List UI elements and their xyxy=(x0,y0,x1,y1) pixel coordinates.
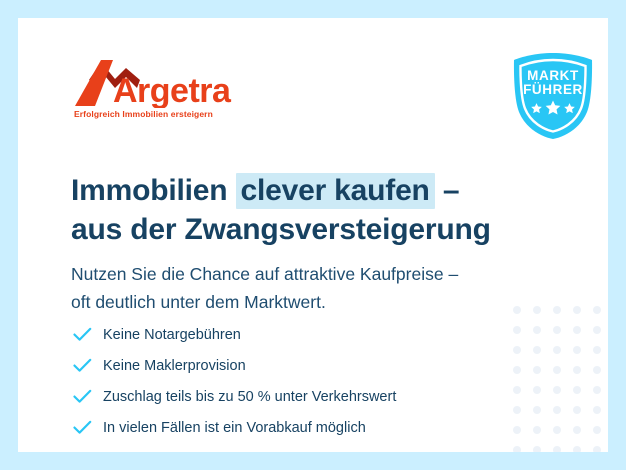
shield-icon xyxy=(507,129,599,146)
headline-pre: Immobilien xyxy=(71,174,236,207)
dot xyxy=(593,426,601,434)
dot xyxy=(513,446,521,452)
dot-row xyxy=(513,406,608,414)
check-icon xyxy=(73,420,99,435)
argetra-roof-mark-icon: Argetra xyxy=(71,58,251,113)
dot-row xyxy=(513,326,608,334)
dot xyxy=(573,406,581,414)
dot xyxy=(593,346,601,354)
dot xyxy=(573,386,581,394)
list-item-label: Keine Maklerprovision xyxy=(99,358,246,374)
dot xyxy=(573,366,581,374)
dot xyxy=(593,446,601,452)
benefit-list: Keine NotargebührenKeine Maklerprovision… xyxy=(73,319,523,443)
dot-row xyxy=(513,366,608,374)
subtitle-line-1: Nutzen Sie die Chance auf attraktive Kau… xyxy=(71,260,571,288)
dot xyxy=(573,426,581,434)
dot xyxy=(553,386,561,394)
dot xyxy=(533,326,541,334)
dot-row xyxy=(513,346,608,354)
headline-line-2: aus der Zwangsversteigerung xyxy=(71,211,551,250)
dot xyxy=(593,386,601,394)
dot xyxy=(553,366,561,374)
dot-grid-decoration xyxy=(513,306,608,452)
dot xyxy=(553,426,561,434)
page-title: Immobilien clever kaufen – aus der Zwang… xyxy=(71,172,551,249)
check-icon xyxy=(73,389,99,404)
headline-highlight: clever kaufen xyxy=(236,173,435,209)
dot xyxy=(573,446,581,452)
dot-row xyxy=(513,446,608,452)
dot xyxy=(593,406,601,414)
dot xyxy=(553,446,561,452)
list-item-label: In vielen Fällen ist ein Vorabkauf mögli… xyxy=(99,420,366,436)
dot xyxy=(593,326,601,334)
dot-row xyxy=(513,426,608,434)
dot xyxy=(533,406,541,414)
dot xyxy=(573,326,581,334)
banner-card: Argetra Erfolgreich Immobilien ersteiger… xyxy=(18,18,608,452)
dot xyxy=(533,346,541,354)
logo-tagline: Erfolgreich Immobilien ersteigern xyxy=(74,109,213,119)
headline-post: – xyxy=(435,174,460,207)
argetra-logo[interactable]: Argetra Erfolgreich Immobilien ersteiger… xyxy=(71,58,251,124)
check-icon xyxy=(73,358,99,373)
list-item: Keine Notargebühren xyxy=(73,319,523,350)
dot xyxy=(553,346,561,354)
dot xyxy=(533,386,541,394)
dot xyxy=(573,306,581,314)
dot xyxy=(593,366,601,374)
list-item: In vielen Fällen ist ein Vorabkauf mögli… xyxy=(73,412,523,443)
dot xyxy=(553,326,561,334)
dot xyxy=(533,366,541,374)
check-icon xyxy=(73,327,99,342)
svg-text:Argetra: Argetra xyxy=(113,72,232,108)
subtitle-line-2: oft deutlich unter dem Marktwert. xyxy=(71,288,571,316)
list-item-label: Keine Notargebühren xyxy=(99,327,241,343)
dot xyxy=(553,406,561,414)
list-item: Zuschlag teils bis zu 50 % unter Verkehr… xyxy=(73,381,523,412)
dot xyxy=(533,426,541,434)
list-item-label: Zuschlag teils bis zu 50 % unter Verkehr… xyxy=(99,389,396,405)
promo-banner: Argetra Erfolgreich Immobilien ersteiger… xyxy=(0,0,626,470)
dot xyxy=(573,346,581,354)
dot xyxy=(533,446,541,452)
list-item: Keine Maklerprovision xyxy=(73,350,523,381)
dot xyxy=(593,306,601,314)
dot-row xyxy=(513,386,608,394)
market-leader-badge: MARKT FÜHRER xyxy=(507,50,599,142)
headline-line-1: Immobilien clever kaufen – xyxy=(71,172,551,211)
page-subtitle: Nutzen Sie die Chance auf attraktive Kau… xyxy=(71,260,571,317)
